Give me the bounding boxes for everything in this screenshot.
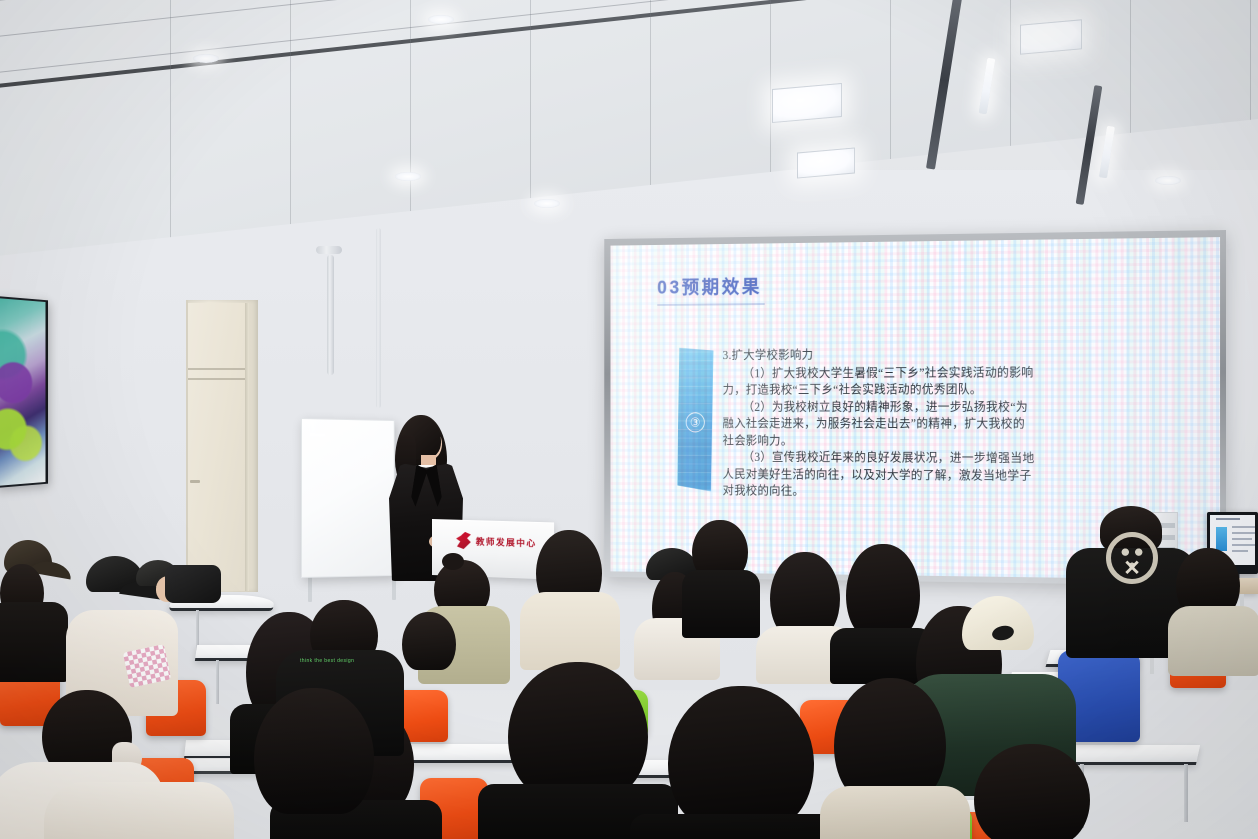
ceiling-downlight <box>534 199 560 208</box>
whiteboard[interactable] <box>301 418 395 578</box>
torso <box>820 786 970 839</box>
torso <box>0 602 68 682</box>
slide-paragraph-3-line-3: 对我校的向往。 <box>723 483 1195 503</box>
audience-member <box>956 744 1116 839</box>
slide-paragraph-2-line-3: 社会影响力。 <box>723 432 1195 450</box>
wall-artwork-panel <box>0 296 48 488</box>
monitor-slide-title-bar <box>1216 518 1240 520</box>
desk-leg <box>216 660 219 704</box>
torso <box>1168 606 1258 676</box>
hair <box>668 686 814 826</box>
slide-step-marker: ③ <box>686 412 705 432</box>
slide-heading: 3.扩大学校影响力 <box>723 345 1195 364</box>
institution-logo-icon <box>456 532 471 550</box>
hair <box>402 612 456 670</box>
hair <box>770 552 840 636</box>
audience-member <box>44 782 234 839</box>
audience-member <box>0 540 70 670</box>
door[interactable] <box>188 303 245 591</box>
audience-member <box>236 688 396 839</box>
door-rail <box>188 378 245 380</box>
shirt-graphic-x: ✕ <box>1123 558 1141 579</box>
slide-paragraph-2-line-2: 融入社会走进来，为服务社会走出去”的精神，扩大我校的 <box>723 416 1195 434</box>
wall-conduit-pipe <box>316 246 342 254</box>
torso <box>682 570 760 638</box>
classroom-photo: 03预期效果 ③ 3.扩大学校影响力 （1）扩大我校大学生暑假“三下乡”社会实践… <box>0 0 1258 839</box>
baseball-cap <box>962 596 1034 650</box>
hoodie-print-text: think the best design <box>300 658 354 664</box>
desk-leg <box>1184 764 1188 822</box>
door-gap <box>245 303 249 591</box>
torso-hoodie <box>44 782 234 839</box>
ceiling-led-panel <box>797 147 855 178</box>
slide-paragraph-1-line-1: （1）扩大我校大学生暑假“三下乡”社会实践活动的影响 <box>723 364 1195 382</box>
slide-title-underline <box>657 303 764 306</box>
audience-member <box>1176 548 1258 668</box>
audience-member <box>688 520 758 630</box>
wall-conduit-pipe <box>376 228 381 408</box>
slide-paragraph-2-line-1: （2）为我校树立良好的精神形象，进一步弘扬我校“为 <box>723 399 1195 416</box>
ceiling-downlight <box>428 15 454 24</box>
slide-accent-bar: ③ <box>677 348 713 492</box>
hair-bun <box>442 553 464 570</box>
ceiling-downlight <box>395 172 421 181</box>
torso <box>520 592 620 670</box>
audience-member <box>524 530 620 660</box>
wall-conduit-pipe <box>327 255 334 375</box>
ceiling-led-panel <box>772 83 842 123</box>
slide-paragraph-1-line-2: 力，打造我校“三下乡“社会实践活动的优秀团队。 <box>723 381 1195 399</box>
backpack <box>165 565 221 603</box>
ceiling-led-panel <box>1020 19 1082 54</box>
hair <box>508 662 648 796</box>
hair <box>974 744 1090 839</box>
audience-member <box>820 678 970 839</box>
door-handle[interactable] <box>190 480 200 483</box>
slide-text-block: 3.扩大学校影响力 （1）扩大我校大学生暑假“三下乡”社会实践活动的影响 力，打… <box>723 345 1195 503</box>
torso <box>630 814 846 839</box>
whiteboard-glare <box>310 433 326 436</box>
ceiling-downlight <box>1155 176 1181 185</box>
slide-title: 03预期效果 <box>657 267 1194 299</box>
ceiling-downlight <box>193 54 219 63</box>
audience-member <box>640 686 840 839</box>
audience-member <box>165 565 235 625</box>
hair <box>254 688 374 814</box>
slide-paragraph-3-line-1: （3）宣传我校近年来的良好发展状况，进一步增强当地 <box>723 449 1195 468</box>
audience-member <box>396 612 466 682</box>
door-rail <box>188 368 245 370</box>
slide-body: ③ 3.扩大学校影响力 （1）扩大我校大学生暑假“三下乡”社会实践活动的影响 力… <box>641 345 1194 503</box>
hair <box>834 678 946 800</box>
